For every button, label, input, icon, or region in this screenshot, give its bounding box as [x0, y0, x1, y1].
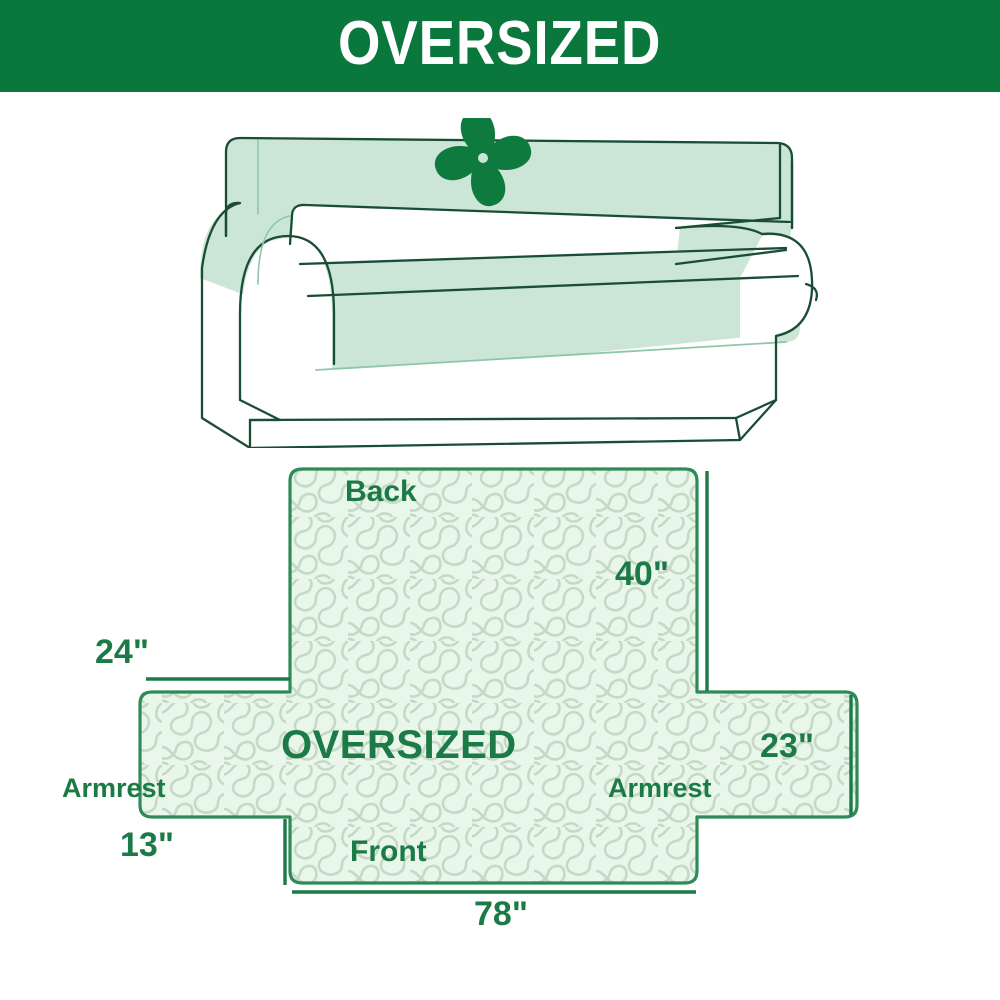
dimension-label-40: 40": [615, 555, 669, 594]
cover-diagram-svg: [100, 455, 940, 945]
header-banner: OVERSIZED: [0, 0, 1000, 92]
sofa-illustration: [180, 118, 820, 448]
dimension-label-13: 13": [120, 826, 174, 865]
dimension-label-24: 24": [95, 633, 149, 672]
sofa-svg: [180, 118, 820, 448]
panel-label-front: Front: [350, 835, 427, 869]
cover-shape: [140, 469, 857, 883]
cover-center-label: OVERSIZED: [281, 723, 517, 768]
cover-diagram: 78": [100, 455, 940, 945]
panel-label-back: Back: [345, 475, 417, 509]
dimension-label-78: 78": [474, 895, 528, 934]
dimension-label-23: 23": [760, 727, 814, 766]
panel-label-armrest-right: Armrest: [608, 773, 712, 804]
page-title: OVERSIZED: [338, 13, 661, 75]
sofa-right-inner-arm: [780, 145, 792, 222]
panel-label-armrest-left: Armrest: [62, 773, 166, 804]
